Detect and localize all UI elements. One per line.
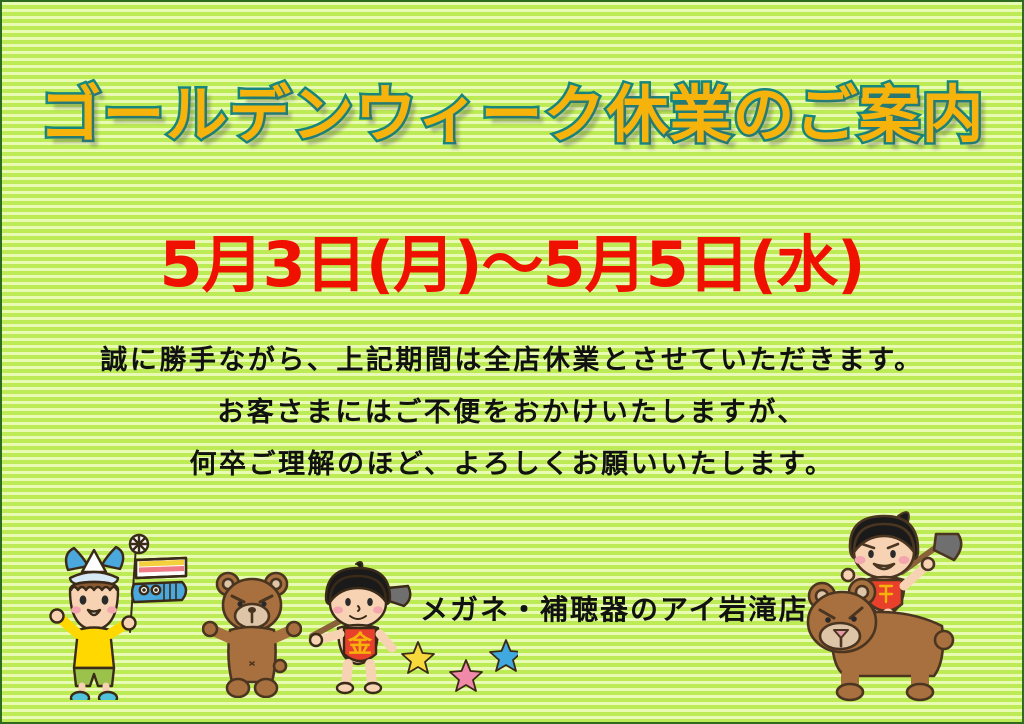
body-line-2: お客さまにはご不便をおかけいたしますが、 — [2, 387, 1022, 439]
shop-name: メガネ・補聴器のアイ岩滝店 — [420, 588, 809, 628]
standing-bear-icon — [202, 558, 302, 698]
kintaro-riding-bear-icon — [794, 500, 994, 705]
closure-date: 5月3日(月)〜5月5日(水) — [160, 214, 865, 304]
stars-decoration-icon — [398, 638, 518, 694]
body-text-container: 誠に勝手ながら、上記期間は全店休業とさせていただきます。 お客さまにはご不便をお… — [2, 335, 1022, 490]
svg-text:金: 金 — [347, 630, 373, 658]
page-title: ゴールデンウィーク休業のご案内 — [39, 64, 984, 154]
body-line-3: 何卒ご理解のほど、よろしくお願いいたします。 — [2, 439, 1022, 491]
boy-with-kabuto-and-koinobori-icon — [44, 520, 204, 700]
title-container: ゴールデンウィーク休業のご案内 — [2, 64, 1022, 154]
body-line-1: 誠に勝手ながら、上記期間は全店休業とさせていただきます。 — [2, 335, 1022, 387]
closure-date-container: 5月3日(月)〜5月5日(水) — [2, 214, 1022, 304]
holiday-notice-poster: ゴールデンウィーク休業のご案内 5月3日(月)〜5月5日(水) 誠に勝手ながら、… — [0, 0, 1024, 724]
